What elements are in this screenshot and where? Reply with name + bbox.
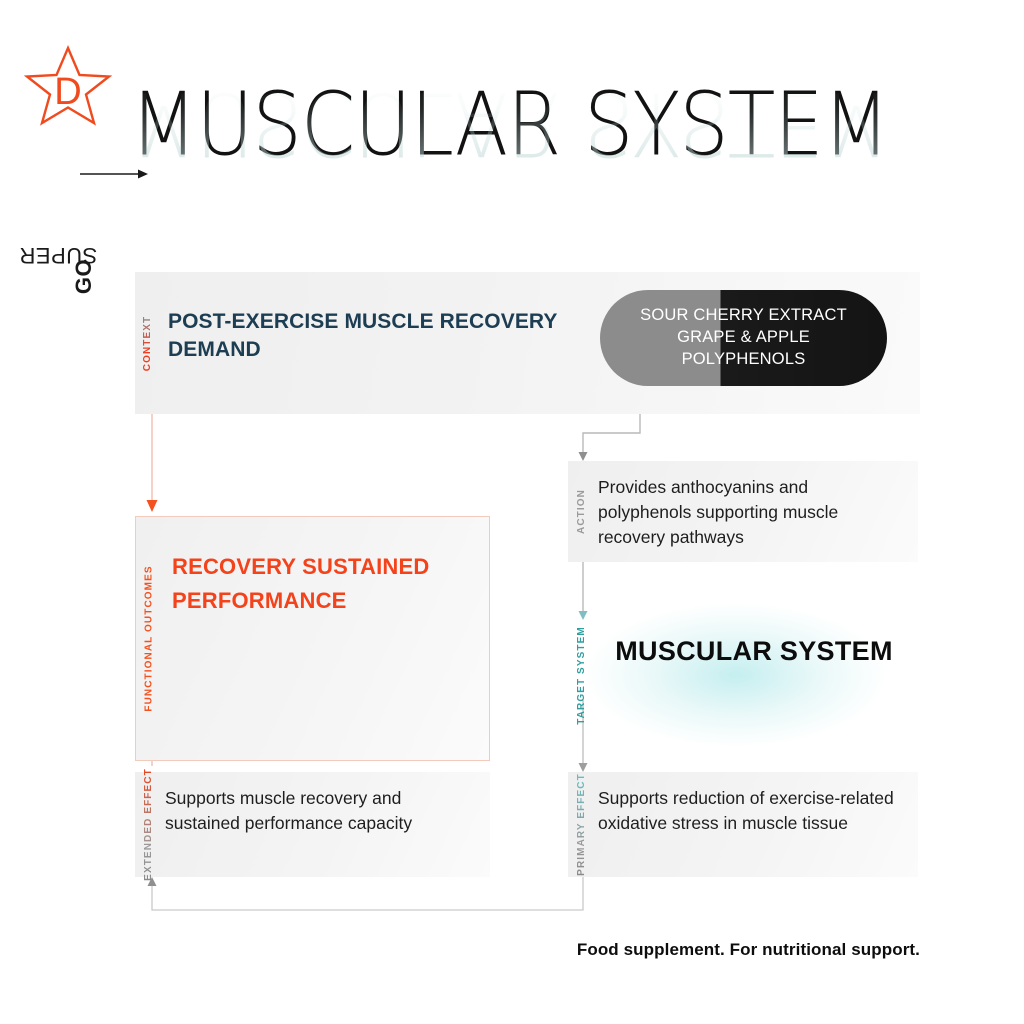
extended-effect-panel: EXTENDED EFFECT Supports muscle recovery…	[135, 772, 490, 877]
action-panel: ACTION Provides anthocyanins and polyphe…	[568, 461, 918, 562]
connector-pill-to-action	[579, 414, 641, 461]
target-system-label: TARGET SYSTEM	[568, 594, 594, 756]
primary-effect-text: Supports reduction of exercise-related o…	[598, 786, 898, 836]
connector-context-to-outcomes	[147, 414, 158, 512]
extended-effect-text: Supports muscle recovery and sustained p…	[165, 786, 465, 836]
action-text: Provides anthocyanins and polyphenols su…	[598, 475, 898, 550]
functional-outcomes-panel: FUNCTIONAL OUTCOMES RECOVERY SUSTAINED P…	[135, 516, 490, 761]
context-heading: POST-EXERCISE MUSCLE RECOVERY DEMAND	[168, 308, 588, 364]
context-label: CONTEXT	[135, 272, 161, 414]
ingredient-pill[interactable]: SOUR CHERRY EXTRACT GRAPE & APPLE POLYPH…	[600, 290, 887, 386]
footer-note: Food supplement. For nutritional support…	[0, 940, 920, 960]
extended-effect-label: EXTENDED EFFECT	[135, 772, 161, 877]
target-system-panel: TARGET SYSTEM MUSCULAR SYSTEM	[568, 594, 918, 756]
flow-diagram: CONTEXT POST-EXERCISE MUSCLE RECOVERY DE…	[0, 0, 1024, 1024]
action-label: ACTION	[568, 461, 594, 562]
ingredient-pill-text: SOUR CHERRY EXTRACT GRAPE & APPLE POLYPH…	[600, 305, 887, 370]
functional-outcomes-text: RECOVERY SUSTAINED PERFORMANCE	[172, 550, 462, 617]
connector-primary-to-extended	[148, 877, 584, 910]
infographic-page: D SUPER GO MUSCULAR SYSTEM MUSCULAR SYST…	[0, 0, 1024, 1024]
primary-effect-panel: PRIMARY EFFECT Supports reduction of exe…	[568, 772, 918, 877]
primary-effect-label: PRIMARY EFFECT	[568, 772, 594, 877]
functional-outcomes-label: FUNCTIONAL OUTCOMES	[136, 517, 162, 760]
target-system-heading: MUSCULAR SYSTEM	[568, 634, 918, 669]
